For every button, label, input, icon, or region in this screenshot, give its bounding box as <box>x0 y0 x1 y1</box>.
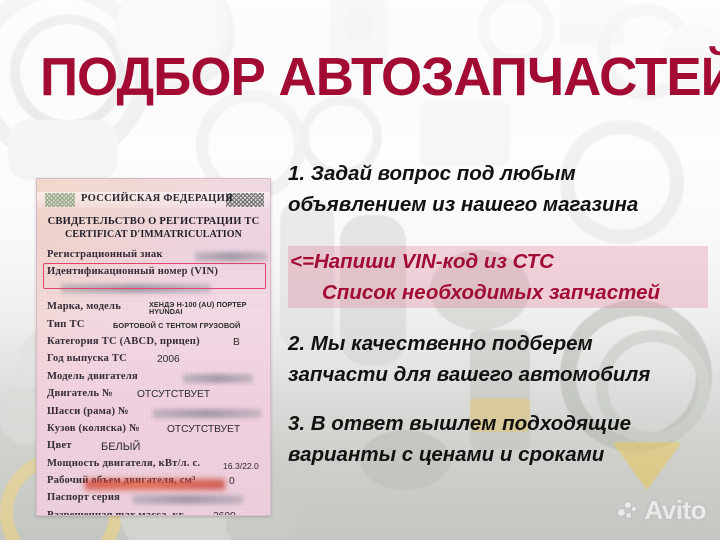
card-serial-number-redacted <box>85 479 225 490</box>
field-value: 0 <box>229 476 235 487</box>
card-field-rows: Регистрационный знак Идентификационный н… <box>47 249 262 516</box>
card-row: Модель двигателя <box>47 371 262 388</box>
avito-wordmark: Avito <box>644 495 706 526</box>
steps-column: 1. Задай вопрос под любым объявлением из… <box>288 160 708 472</box>
field-label: Идентификационный номер (VIN) <box>47 266 218 277</box>
card-row: Двигатель №ОТСУТСТВУЕТ <box>47 388 262 405</box>
step-3-line-1: 3. В ответ вышлем подходящие <box>288 410 708 437</box>
redacted-value <box>195 252 267 261</box>
field-label: Двигатель № <box>47 388 113 399</box>
vin-callout: <=Напиши VIN-код из СТС Список необходим… <box>288 246 708 308</box>
field-value: 2600 <box>213 511 236 516</box>
card-country: РОССИЙСКАЯ ФЕДЕРАЦИЯ <box>81 193 226 204</box>
field-value-secondary: HYUNDAI <box>149 308 182 316</box>
field-label: Цвет <box>47 440 72 451</box>
guilloche-left <box>45 193 75 207</box>
field-value: ОТСУТСТВУЕТ <box>137 389 210 400</box>
step-1-line-2: объявлением из нашего магазина <box>288 191 708 218</box>
field-label: Разрешенная max масса, кг <box>47 510 184 516</box>
field-label: Тип ТС <box>47 319 85 330</box>
field-value: ОТСУТСТВУЕТ <box>167 424 240 435</box>
vin-callout-line-2: Список необходимых запчастей <box>288 277 708 308</box>
field-value: 16.3/22.0 <box>223 461 259 471</box>
card-row <box>47 284 262 301</box>
card-row: Идентификационный номер (VIN) <box>47 266 262 283</box>
card-doc-title-ru: СВИДЕТЕЛЬСТВО О РЕГИСТРАЦИИ ТС <box>37 215 270 228</box>
redacted-value <box>133 495 243 504</box>
field-label: Категория ТС (ABCD, прицеп) <box>47 336 200 347</box>
card-doc-title-fr: CERTIFICAT D'IMMATRICULATION <box>37 228 270 241</box>
step-3-line-2: варианты с ценами и сроками <box>288 441 708 468</box>
field-value: B <box>233 337 240 348</box>
field-label: Регистрационный знак <box>47 249 163 260</box>
vin-callout-line-1: <=Напиши VIN-код из СТС <box>288 246 708 277</box>
card-row: Кузов (коляска) №ОТСУТСТВУЕТ <box>47 423 262 440</box>
card-row: Год выпуска ТС2006 <box>47 353 262 370</box>
vehicle-registration-card: РОССИЙСКАЯ ФЕДЕРАЦИЯ СВИДЕТЕЛЬСТВО О РЕГ… <box>36 178 271 516</box>
card-row: Категория ТС (ABCD, прицеп)B <box>47 336 262 353</box>
field-label: Модель двигателя <box>47 371 138 382</box>
card-row: Шасси (рама) № <box>47 406 262 423</box>
field-label: Кузов (коляска) № <box>47 423 140 434</box>
slide-canvas: ПОДБОР АВТОЗАПЧАСТЕЙ 1. Задай вопрос под… <box>0 0 720 540</box>
card-row: Регистрационный знак <box>47 249 262 266</box>
step-2-line-2: запчасти для вашего автомобиля <box>288 361 708 388</box>
redacted-value <box>183 374 253 383</box>
avito-watermark: Avito <box>618 495 706 526</box>
redacted-value <box>61 284 211 293</box>
field-value: 2006 <box>157 354 180 365</box>
card-row: Мощность двигателя, кВт/л. с.16.3/22.0 <box>47 458 262 475</box>
field-label: Паспорт серия <box>47 492 120 503</box>
card-row: Тип ТСБОРТОВОЙ С ТЕНТОМ ГРУЗОВОЙ <box>47 319 262 336</box>
field-label: Мощность двигателя, кВт/л. с. <box>47 458 200 469</box>
step-2-line-1: 2. Мы качественно подберем <box>288 330 708 357</box>
card-row: Марка, модельХЕНДЭ Н-100 (AU) ПОРТЕРHYUN… <box>47 301 262 318</box>
field-label: Шасси (рама) № <box>47 406 129 417</box>
avito-dots-icon <box>618 500 640 522</box>
field-label: Марка, модель <box>47 301 121 312</box>
card-row: ЦветБЕЛЫЙ <box>47 440 262 457</box>
step-1-line-1: 1. Задай вопрос под любым <box>288 160 708 187</box>
field-label: Год выпуска ТС <box>47 353 127 364</box>
field-value: БЕЛЫЙ <box>101 441 140 453</box>
redacted-value <box>153 409 261 418</box>
card-doc-title: СВИДЕТЕЛЬСТВО О РЕГИСТРАЦИИ ТС CERTIFICA… <box>37 215 270 241</box>
card-row: Паспорт серия <box>47 492 262 509</box>
field-value: БОРТОВОЙ С ТЕНТОМ ГРУЗОВОЙ <box>113 321 240 330</box>
card-row: Разрешенная max масса, кг2600 <box>47 510 262 516</box>
page-title: ПОДБОР АВТОЗАПЧАСТЕЙ <box>40 48 720 106</box>
